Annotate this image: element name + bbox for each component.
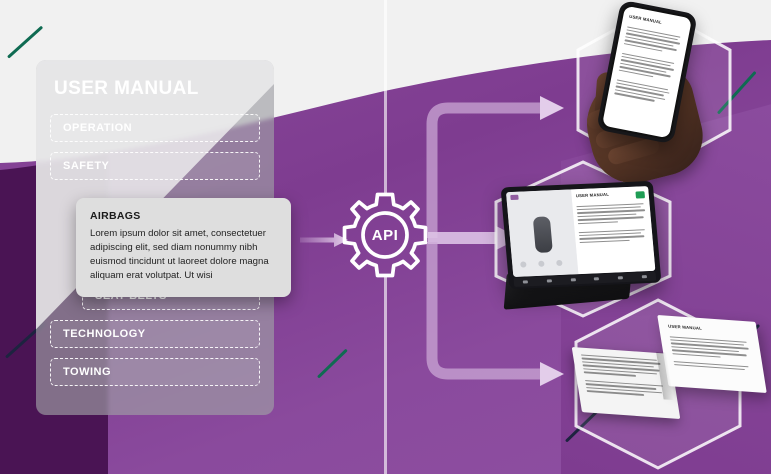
car-diagram-icon: [532, 216, 552, 253]
menu-item-operation[interactable]: OPERATION: [50, 114, 260, 142]
manual-right-page: USER MANUAL: [657, 315, 767, 393]
menu-item-towing[interactable]: TOWING: [50, 358, 260, 386]
menu-item-label: SAFETY: [63, 160, 109, 172]
vertical-guide-top: [384, 0, 387, 196]
airbags-detail-card[interactable]: AIRBAGS Lorem ipsum dolor sit amet, cons…: [76, 198, 291, 297]
infographic-canvas: USER MANUAL OPERATION SAFETY SEAT BELTS …: [0, 0, 771, 474]
printed-manual-output[interactable]: USER MANUAL: [576, 316, 756, 420]
car-manual-document: USER MANUAL: [571, 186, 655, 274]
page-title: USER MANUAL: [54, 78, 274, 100]
car-screen-title: USER MANUAL: [576, 192, 610, 198]
car-screen-badge: [635, 191, 645, 198]
airbags-card-body: Lorem ipsum dolor sit amet, consectetuer…: [90, 227, 277, 283]
menu-item-safety[interactable]: SAFETY: [50, 152, 260, 180]
api-hub[interactable]: API: [341, 191, 429, 279]
menu-item-label: TOWING: [63, 366, 111, 378]
api-hub-label: API: [341, 191, 429, 279]
car-screen-subtitle: [576, 198, 609, 203]
vertical-guide-bottom: [384, 274, 387, 474]
menu-item-label: TECHNOLOGY: [63, 328, 146, 340]
menu-item-technology[interactable]: TECHNOLOGY: [50, 320, 260, 348]
car-infotainment-output[interactable]: USER MANUAL: [501, 181, 662, 289]
car-vehicle-panel: [506, 189, 579, 277]
car-screen-ui: USER MANUAL: [506, 186, 655, 277]
airbags-card-title: AIRBAGS: [90, 210, 277, 222]
menu-item-label: OPERATION: [63, 122, 132, 134]
